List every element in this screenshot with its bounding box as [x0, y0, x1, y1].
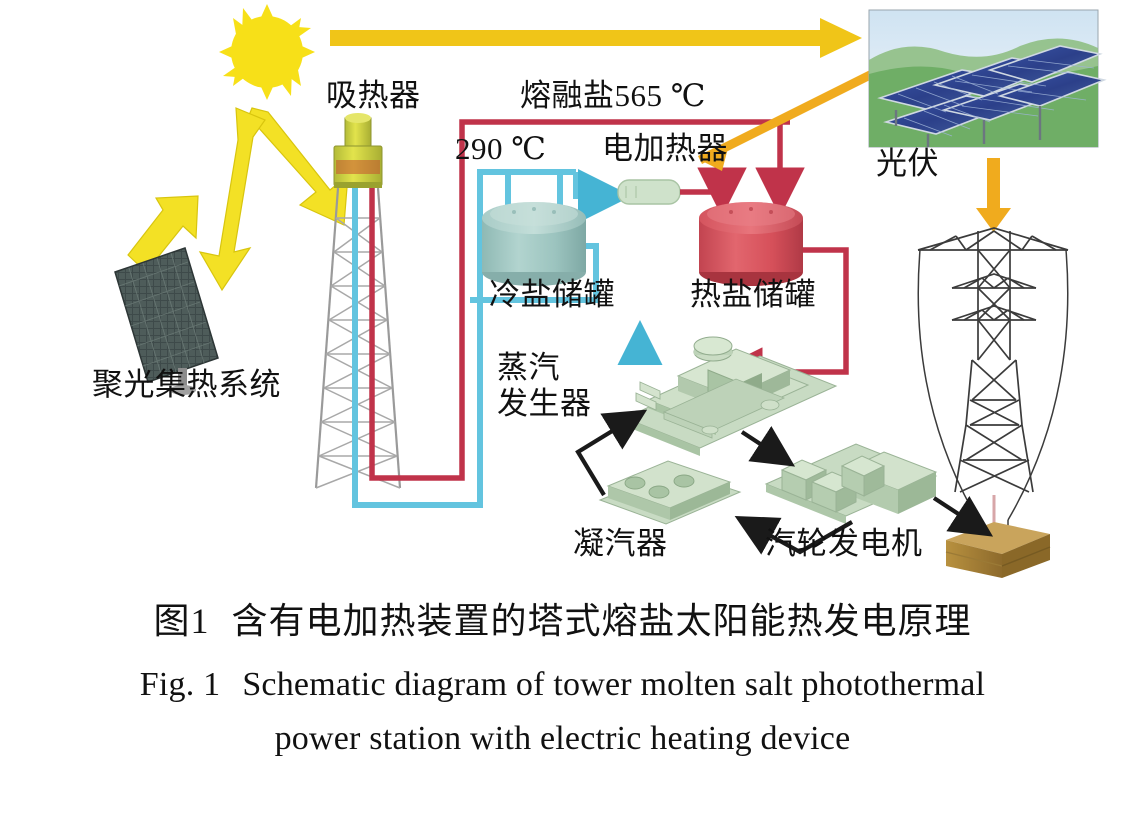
sun-icon	[219, 4, 315, 100]
label-steam-generator-line1: 蒸汽	[497, 352, 560, 385]
label-photovoltaic: 光伏	[876, 148, 939, 181]
caption-english-line2: power station with electric heating devi…	[0, 720, 1125, 758]
figure-caption: 图1含有电加热装置的塔式熔盐太阳能热发电原理 Fig. 1Schematic d…	[0, 592, 1125, 758]
steam-generator-icon	[625, 337, 836, 456]
label-molten-salt-hot-temp: 熔融盐565 ℃	[520, 80, 706, 113]
condenser-icon	[600, 461, 740, 524]
hot-salt-tank-icon	[699, 202, 803, 286]
pv-array-photo	[869, 10, 1104, 147]
caption-en-number: Fig. 1	[140, 666, 221, 703]
label-concentrating-system: 聚光集热系统	[92, 369, 281, 402]
electric-heater-icon	[618, 180, 680, 204]
cold-salt-tank-icon	[482, 202, 586, 286]
caption-cn-text: 含有电加热装置的塔式熔盐太阳能热发电原理	[232, 601, 972, 641]
pv-output-arrow	[976, 158, 1011, 232]
sunlight-to-pv-arrow	[330, 18, 862, 58]
transformer-box-icon	[946, 522, 1050, 578]
caption-english-line1: Fig. 1Schematic diagram of tower molten …	[0, 666, 1125, 704]
label-turbine-generator: 汽轮发电机	[765, 528, 923, 561]
turbine-generator-icon	[766, 444, 936, 524]
caption-chinese: 图1含有电加热装置的塔式熔盐太阳能热发电原理	[0, 592, 1125, 644]
label-cold-temp: 290 ℃	[455, 133, 546, 166]
label-hot-salt-tank: 热盐储罐	[690, 279, 816, 312]
caption-cn-number: 图1	[153, 601, 209, 641]
label-electric-heater: 电加热器	[602, 133, 728, 166]
schematic-figure: 吸热器 熔融盐565 ℃ 290 ℃ 电加热器 冷盐储罐 热盐储罐 聚光集热系统…	[0, 0, 1125, 585]
label-cold-salt-tank: 冷盐储罐	[489, 279, 615, 312]
receiver-icon	[334, 113, 382, 188]
label-condenser: 凝汽器	[573, 528, 668, 561]
label-receiver: 吸热器	[326, 80, 421, 113]
label-steam-generator-line2: 发生器	[497, 388, 592, 421]
transmission-tower-icon	[918, 228, 1068, 534]
caption-en-text1: Schematic diagram of tower molten salt p…	[242, 666, 985, 703]
